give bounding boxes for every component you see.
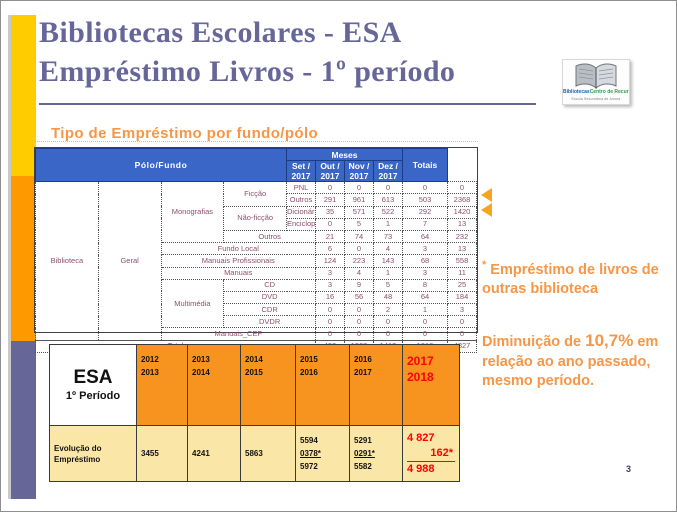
cell-geral: Geral: [98, 182, 161, 340]
cell-value: 73: [374, 230, 403, 242]
sidebar-band-yellow: [11, 15, 36, 176]
cell-total: 25: [448, 279, 477, 291]
logo-caption: BibliotecasCentro de Recursos: [563, 89, 629, 95]
cell-value: 4: [374, 243, 403, 255]
row-label: DVDR: [224, 316, 316, 328]
cell-multimedia: Multimédia: [161, 279, 224, 328]
cell-value: 0: [374, 328, 403, 340]
header-month-1-bottom: 2017: [321, 171, 340, 181]
row-label: Manuais_CEF: [161, 328, 316, 340]
esa-year-bottom: 2018: [407, 369, 455, 385]
esa-value-line-underlined: 0378*: [300, 447, 345, 460]
cell-total: 184: [448, 291, 477, 303]
cell-total: 0: [448, 182, 477, 194]
emprestimo-table-container: Pólo/Fundo Meses Totais Set / 2017 Out /…: [34, 147, 478, 333]
school-library-logo: BibliotecasCentro de Recursos Escola Sec…: [562, 59, 630, 105]
cell-value: 0: [345, 328, 374, 340]
esa-year-header-current: 2017 2018: [403, 345, 460, 426]
cell-value: 613: [374, 194, 403, 206]
cell-value: 0: [316, 218, 345, 230]
logo-subcaption: Escola Secundária de Amora: [563, 97, 629, 101]
note-decrease: Diminuição de 10,7% em relação ao ano pa…: [482, 331, 672, 392]
table-head: Pólo/Fundo Meses Totais Set / 2017 Out /…: [36, 149, 477, 182]
header-totais: Totais: [403, 149, 448, 182]
callout-arrow-icon: [481, 203, 492, 217]
cell-value: 16: [316, 291, 345, 303]
cell-total: 0: [448, 316, 477, 328]
esa-year-bottom: 2016: [300, 366, 345, 379]
table-header-row-1: Pólo/Fundo Meses Totais: [36, 149, 477, 161]
cell-value: 0: [403, 316, 448, 328]
cell-value: 64: [403, 230, 448, 242]
note-decrease-pre: Diminuição de: [482, 334, 585, 350]
esa-value-line-sum: 4 988: [407, 462, 455, 477]
header-month-2: Nov / 2017: [345, 161, 374, 182]
cell-total: 0: [448, 328, 477, 340]
esa-year-top: 2012: [141, 353, 183, 366]
cell-value: 35: [316, 206, 345, 218]
cell-value: 3: [403, 267, 448, 279]
esa-year-top: 2013: [192, 353, 236, 366]
header-month-0-bottom: 2017: [292, 171, 311, 181]
esa-year-top: 2017: [407, 353, 455, 369]
cell-value: 291: [316, 194, 345, 206]
esa-value-line: 5291: [354, 434, 398, 447]
cell-value: 0: [374, 316, 403, 328]
cell-total: 232: [448, 230, 477, 242]
note-decrease-percent: 10,7%: [585, 331, 633, 350]
logo-caption-b: Centro de Recursos: [590, 89, 630, 95]
section-subtitle: Tipo de Empréstimo por fundo/pólo: [51, 125, 318, 142]
header-month-3-bottom: 2017: [379, 171, 398, 181]
cell-value: 0: [345, 243, 374, 255]
cell-value: 292: [403, 206, 448, 218]
esa-value-cell: 3455: [137, 426, 188, 482]
cell-value: 503: [403, 194, 448, 206]
cell-value: 143: [374, 255, 403, 267]
cell-value: 0: [345, 304, 374, 316]
header-month-1-top: Out /: [320, 161, 339, 171]
cell-value: 1: [403, 304, 448, 316]
emprestimo-table: Pólo/Fundo Meses Totais Set / 2017 Out /…: [35, 148, 477, 353]
page-title: Bibliotecas Escolares - ESA Empréstimo L…: [39, 13, 559, 91]
esa-subtitle: 1º Período: [54, 389, 132, 404]
row-label: Fundo Local: [161, 243, 316, 255]
cell-value: 0: [345, 316, 374, 328]
sidebar-band-orange: [11, 176, 36, 341]
header-meses: Meses: [287, 149, 403, 161]
cell-value: 48: [374, 291, 403, 303]
esa-value-cell: 4241: [188, 426, 241, 482]
row-label: Manuais: [161, 267, 316, 279]
cell-total: 1420: [448, 206, 477, 218]
esa-value-line-sum: 5582: [354, 460, 398, 473]
cell-value: 0: [403, 328, 448, 340]
header-polo-fundo: Pólo/Fundo: [36, 149, 287, 182]
cell-value: 0: [374, 182, 403, 194]
slide-number: 3: [626, 464, 631, 474]
esa-year-top: 2015: [300, 353, 345, 366]
esa-year-top: 2014: [245, 353, 291, 366]
esa-value-cell: 5291 0291* 5582: [350, 426, 403, 482]
cell-biblioteca: Biblioteca: [36, 182, 99, 340]
cell-value: 7: [403, 218, 448, 230]
note-footnote: * Empréstimo de livros de outras bibliot…: [482, 256, 672, 300]
esa-row-label: Evolução do Empréstimo: [50, 426, 137, 482]
esa-year-bottom: 2014: [192, 366, 236, 379]
cell-value: 68: [403, 255, 448, 267]
row-label: CD: [224, 279, 316, 291]
esa-value-line: 3455: [141, 447, 183, 460]
cell-value: 6: [316, 243, 345, 255]
esa-value-cell-current: 4 827 162* 4 988: [403, 426, 460, 482]
row-label: CDR: [224, 304, 316, 316]
slide-canvas: Bibliotecas Escolares - ESA Empréstimo L…: [0, 0, 677, 512]
cell-value: 3: [316, 279, 345, 291]
header-month-3-top: Dez /: [378, 161, 398, 171]
table-body: Biblioteca Geral Monografias Ficção PNL …: [36, 182, 477, 353]
title-divider: [39, 103, 536, 105]
esa-value-line-underlined: 0291*: [354, 447, 398, 460]
cell-total: 13: [448, 243, 477, 255]
cell-ficcao: Ficção: [224, 182, 287, 206]
cell-value: 21: [316, 230, 345, 242]
title-line-2: Empréstimo Livros - 1º período: [39, 52, 559, 91]
esa-title: ESA: [54, 366, 132, 389]
header-month-2-top: Nov /: [349, 161, 370, 171]
esa-year-bottom: 2013: [141, 366, 183, 379]
header-month-3: Dez / 2017: [374, 161, 403, 182]
esa-year-header: 2016 2017: [350, 345, 403, 426]
esa-data-row: Evolução do Empréstimo 3455 4241 5863 55…: [50, 426, 460, 482]
cell-monografias: Monografias: [161, 182, 224, 243]
header-month-1: Out / 2017: [316, 161, 345, 182]
cell-value: 0: [316, 328, 345, 340]
esa-header-row: ESA 1º Período 2012 2013 2013 2014 2014 …: [50, 345, 460, 426]
cell-value: 3: [316, 267, 345, 279]
callout-arrow-icon: [481, 188, 492, 202]
header-month-2-bottom: 2017: [350, 171, 369, 181]
esa-year-bottom: 2015: [245, 366, 291, 379]
cell-total: 2368: [448, 194, 477, 206]
row-label: DVD: [224, 291, 316, 303]
esa-title-cell: ESA 1º Período: [50, 345, 137, 426]
esa-evolution-table: ESA 1º Período 2012 2013 2013 2014 2014 …: [49, 344, 460, 482]
row-label: Enciclopédias: [287, 218, 316, 230]
cell-value: 1: [374, 218, 403, 230]
header-month-0-top: Set /: [292, 161, 310, 171]
esa-year-bottom: 2017: [354, 366, 398, 379]
cell-value: 4: [345, 267, 374, 279]
esa-value-line: 4 827: [407, 431, 455, 446]
esa-year-header: 2015 2016: [296, 345, 350, 426]
esa-value-line: 5594: [300, 434, 345, 447]
row-label: Manuais Profissionais: [161, 255, 316, 267]
esa-value-line: 4241: [192, 447, 236, 460]
cell-value: 124: [316, 255, 345, 267]
cell-value: 961: [345, 194, 374, 206]
esa-value-cell: 5863: [241, 426, 296, 482]
cell-value: 64: [403, 291, 448, 303]
cell-value: 223: [345, 255, 374, 267]
cell-value: 571: [345, 206, 374, 218]
row-label: Outros: [224, 230, 316, 242]
cell-value: 0: [316, 316, 345, 328]
cell-value: 8: [403, 279, 448, 291]
logo-caption-a: Bibliotecas: [563, 89, 590, 95]
cell-value: 1: [374, 267, 403, 279]
cell-value: 2: [374, 304, 403, 316]
cell-value: 56: [345, 291, 374, 303]
cell-value: 0: [316, 304, 345, 316]
header-month-0: Set / 2017: [287, 161, 316, 182]
esa-value-cell: 5594 0378* 5972: [296, 426, 350, 482]
cell-total: 13: [448, 218, 477, 230]
cell-value: 522: [374, 206, 403, 218]
cell-total: 558: [448, 255, 477, 267]
esa-value-line-sum: 5972: [300, 460, 345, 473]
esa-value-line-underlined: 162*: [407, 446, 455, 462]
table-row: Biblioteca Geral Monografias Ficção PNL …: [36, 182, 477, 194]
cell-value: 0: [316, 182, 345, 194]
sidebar-band-purple: [11, 341, 36, 499]
cell-value: 74: [345, 230, 374, 242]
cell-value: 0: [345, 182, 374, 194]
esa-value-line: 5863: [245, 447, 291, 460]
cell-value: 5: [345, 218, 374, 230]
cell-value: 0: [403, 182, 448, 194]
row-label: Dicionários: [287, 206, 316, 218]
title-line-1: Bibliotecas Escolares - ESA: [39, 13, 559, 52]
esa-year-header: 2013 2014: [188, 345, 241, 426]
cell-value: 3: [403, 243, 448, 255]
cell-value: 9: [345, 279, 374, 291]
cell-total: 3: [448, 304, 477, 316]
esa-year-header: 2014 2015: [241, 345, 296, 426]
esa-year-top: 2016: [354, 353, 398, 366]
row-label: PNL: [287, 182, 316, 194]
row-label: Outros: [287, 194, 316, 206]
cell-total: 11: [448, 267, 477, 279]
esa-year-header: 2012 2013: [137, 345, 188, 426]
footnote-text: Empréstimo de livros de outras bibliotec…: [482, 262, 659, 298]
cell-value: 5: [374, 279, 403, 291]
cell-nao-ficcao: Não-ficção: [224, 206, 287, 230]
